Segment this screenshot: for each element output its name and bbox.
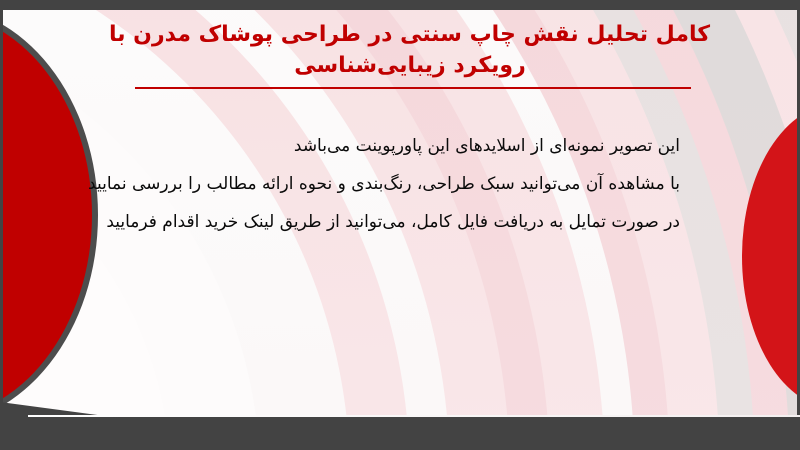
left-frame-edge (0, 0, 3, 450)
slide-title: کامل تحلیل نقش چاپ سنتی در طراحی پوشاک م… (110, 19, 710, 81)
slide-body-text: این تصویر نمونه‌ای از اسلایدهای این پاور… (60, 127, 680, 241)
bottom-highlight-line (28, 415, 800, 417)
body-line-2: با مشاهده آن می‌توانید سبک طراحی، رنگ‌بن… (60, 165, 680, 203)
body-line-1: این تصویر نمونه‌ای از اسلایدهای این پاور… (60, 127, 680, 165)
slide-content-panel: کامل تحلیل نقش چاپ سنتی در طراحی پوشاک م… (0, 9, 800, 418)
body-line-3: در صورت تمایل به دریافت فایل کامل، می‌تو… (60, 203, 680, 241)
top-frame-band (0, 0, 800, 10)
presentation-slide: کامل تحلیل نقش چاپ سنتی در طراحی پوشاک م… (0, 0, 800, 450)
slide-title-line-2: رویکرد زیبایی‌شناسی (110, 50, 710, 81)
bottom-frame-band (0, 416, 800, 450)
title-divider-rule (135, 87, 691, 89)
slide-title-line-1: کامل تحلیل نقش چاپ سنتی در طراحی پوشاک م… (110, 19, 710, 50)
